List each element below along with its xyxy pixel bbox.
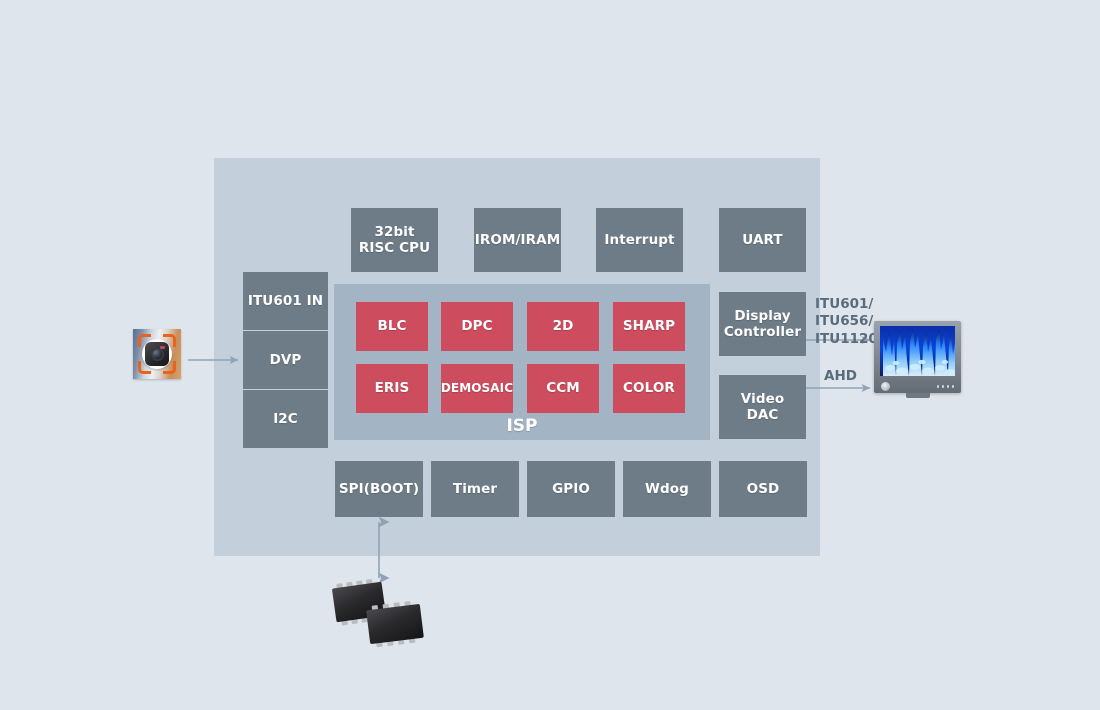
block-blc[interactable]: BLC	[356, 302, 428, 351]
flash-chip-front	[366, 604, 424, 644]
block-interrupt[interactable]: Interrupt	[596, 208, 683, 272]
block-ccm[interactable]: CCM	[527, 364, 599, 413]
monitor-icon	[874, 321, 961, 393]
block-wdog[interactable]: Wdog	[623, 461, 711, 517]
monitor-screen-image	[880, 326, 955, 376]
block-video-dac[interactable]: Video DAC	[719, 375, 806, 439]
camera-sensor-icon	[133, 329, 181, 379]
isp-panel-label: ISP	[334, 416, 710, 436]
label-ahd-output: AHD	[824, 368, 857, 385]
monitor-power-button[interactable]	[881, 382, 890, 391]
block-risc-cpu[interactable]: 32bit RISC CPU	[351, 208, 438, 272]
block-i2c[interactable]: I2C	[243, 390, 328, 448]
flash-memory-chips-icon	[334, 585, 430, 641]
block-uart[interactable]: UART	[719, 208, 806, 272]
diagram-canvas: 32bit RISC CPU IROM/IRAM Interrupt UART …	[0, 0, 1100, 710]
block-2d[interactable]: 2D	[527, 302, 599, 351]
monitor-control-dots	[937, 385, 955, 388]
block-color[interactable]: COLOR	[613, 364, 685, 413]
block-spi-boot[interactable]: SPI(BOOT)	[335, 461, 423, 517]
block-eris[interactable]: ERIS	[356, 364, 428, 413]
block-irom-iram[interactable]: IROM/IRAM	[474, 208, 561, 272]
block-dpc[interactable]: DPC	[441, 302, 513, 351]
monitor-screen	[880, 326, 955, 376]
camera-body	[145, 342, 169, 366]
camera-lens-icon	[151, 348, 164, 361]
block-itu601-in[interactable]: ITU601 IN	[243, 272, 328, 330]
block-demosaic[interactable]: DEMOSAIC	[441, 364, 513, 413]
block-gpio[interactable]: GPIO	[527, 461, 615, 517]
block-sharp[interactable]: SHARP	[613, 302, 685, 351]
monitor-stand	[906, 393, 930, 398]
camera-ring	[142, 339, 172, 369]
block-dvp[interactable]: DVP	[243, 331, 328, 389]
block-display-controller[interactable]: Display Controller	[719, 292, 806, 356]
label-display-output: ITU601/ ITU656/ ITU1120	[815, 296, 878, 348]
block-timer[interactable]: Timer	[431, 461, 519, 517]
block-osd[interactable]: OSD	[719, 461, 807, 517]
monitor-bezel	[874, 380, 961, 393]
